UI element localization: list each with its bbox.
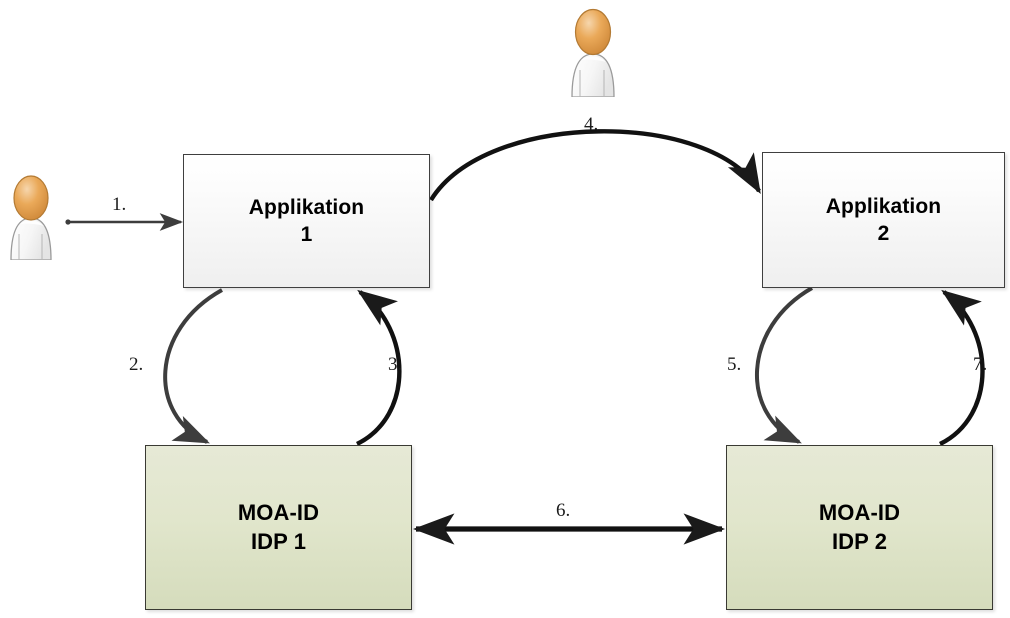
node-applikation-1-line1: Applikation	[249, 194, 364, 221]
node-applikation-2-line1: Applikation	[826, 193, 941, 220]
step-label-3: 3.	[388, 354, 402, 376]
step-label-6: 6.	[556, 500, 570, 522]
connector-4-app1-to-app2	[431, 131, 759, 200]
node-moa-id-idp-2-line2: IDP 2	[832, 528, 887, 557]
user-icon-left	[4, 172, 58, 260]
step-label-4: 4.	[584, 114, 598, 136]
node-moa-id-idp-1[interactable]: MOA-ID IDP 1	[145, 445, 412, 610]
node-moa-id-idp-2-line1: MOA-ID	[819, 499, 900, 528]
step-label-5: 5.	[727, 354, 741, 376]
connector-5-app2-to-idp2	[757, 288, 812, 442]
connector-2-app1-to-idp1	[165, 290, 222, 442]
step-label-1: 1.	[112, 194, 126, 216]
node-applikation-2-line2: 2	[878, 220, 890, 247]
node-moa-id-idp-1-line2: IDP 1	[251, 528, 306, 557]
user-icon-top	[563, 5, 623, 97]
step-label-7: 7.	[973, 354, 987, 376]
diagram-canvas: Applikation 1 Applikation 2 MOA-ID IDP 1…	[0, 0, 1010, 618]
node-moa-id-idp-1-line1: MOA-ID	[238, 499, 319, 528]
connector-1-actor-to-app1	[65, 219, 181, 224]
step-label-2: 2.	[129, 354, 143, 376]
node-applikation-1-line2: 1	[301, 221, 313, 248]
node-moa-id-idp-2[interactable]: MOA-ID IDP 2	[726, 445, 993, 610]
node-applikation-1[interactable]: Applikation 1	[183, 154, 430, 288]
node-applikation-2[interactable]: Applikation 2	[762, 152, 1005, 288]
